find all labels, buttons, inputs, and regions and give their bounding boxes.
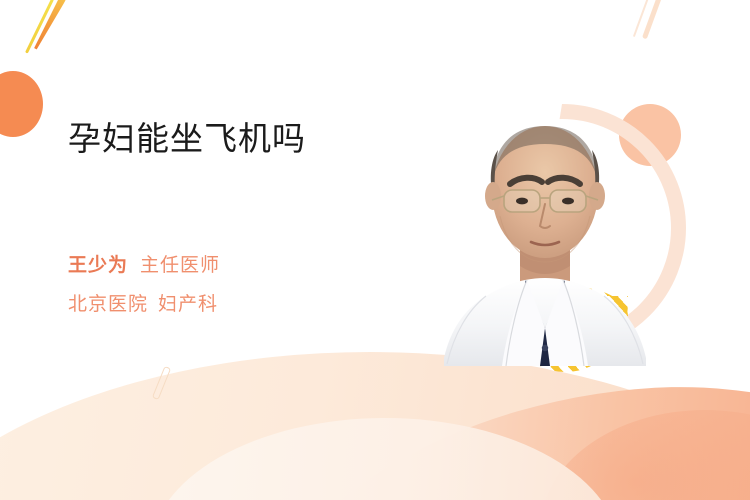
doctor-hospital: 北京医院 xyxy=(68,294,148,315)
doctor-department: 妇产科 xyxy=(158,294,218,315)
faint-stroke-b-icon xyxy=(633,0,649,37)
wave-lobe-shape xyxy=(540,410,750,500)
wave-pale-shape xyxy=(0,352,750,500)
yellow-stroke-icon xyxy=(25,0,54,54)
slide-canvas: 孕妇能坐飞机吗 王少为主任医师 北京医院妇产科 xyxy=(0,0,750,500)
orange-stroke-icon xyxy=(31,0,66,51)
outline-stroke-icon xyxy=(152,366,171,400)
doctor-rank: 主任医师 xyxy=(140,255,220,276)
doctor-name: 王少为 xyxy=(68,255,128,276)
faint-stroke-a-icon xyxy=(642,0,663,39)
page-title: 孕妇能坐飞机吗 xyxy=(68,118,306,159)
wave-cap-shape xyxy=(150,418,620,500)
doctor-name-line: 王少为主任医师 xyxy=(68,250,220,277)
doctor-portrait xyxy=(430,96,660,366)
doctor-affiliation-line: 北京医院妇产科 xyxy=(68,289,218,316)
orange-circle-icon xyxy=(0,71,43,137)
wave-salmon-shape xyxy=(216,360,750,500)
